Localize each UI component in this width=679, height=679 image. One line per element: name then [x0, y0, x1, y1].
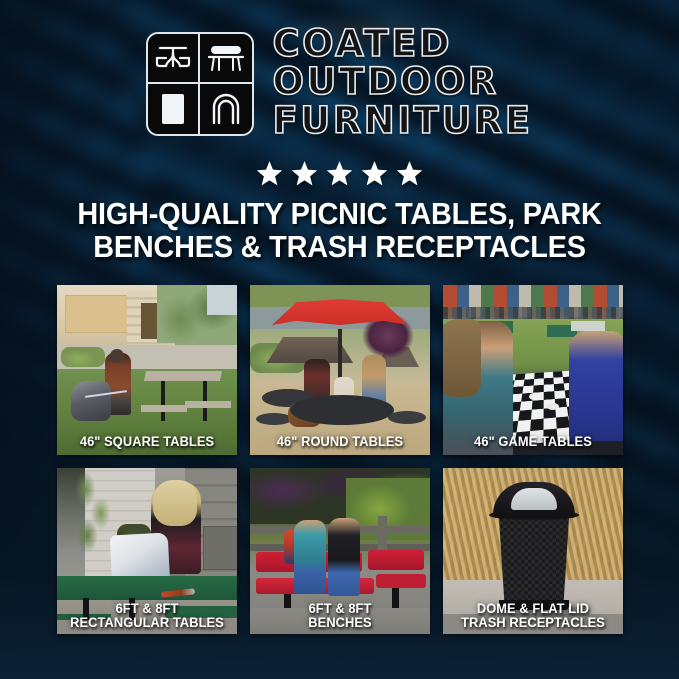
star-icon	[361, 160, 388, 187]
promo-poster: COATED OUTDOOR FURNITURE HIGH-QUALITY PI…	[0, 0, 679, 679]
tile-caption: 46" SQUARE TABLES	[62, 435, 233, 449]
star-icon	[396, 160, 423, 187]
tile-caption-line-2: RECTANGULAR TABLES	[62, 616, 233, 630]
tile-caption: 6FT & 8FT RECTANGULAR TABLES	[62, 602, 233, 630]
headline-line-2: BENCHES & TRASH RECEPTACLES	[41, 231, 639, 264]
tile-caption: 6FT & 8FT BENCHES	[255, 602, 426, 630]
category-tile-round-tables[interactable]: 46" ROUND TABLES	[250, 285, 430, 455]
tile-caption: 46" ROUND TABLES	[255, 435, 426, 449]
tile-caption-line-2: TRASH RECEPTACLES	[448, 616, 619, 630]
tile-caption: 46" GAME TABLES	[448, 435, 619, 449]
product-category-grid: 46" SQUARE TABLES 4	[57, 285, 623, 634]
category-tile-square-tables[interactable]: 46" SQUARE TABLES	[57, 285, 237, 455]
tile-caption-line-1: 46" SQUARE TABLES	[62, 435, 233, 449]
picnic-table-icon	[148, 34, 200, 84]
category-tile-game-tables[interactable]: 46" GAME TABLES	[443, 285, 623, 455]
star-icon	[326, 160, 353, 187]
headline-line-1: HIGH-QUALITY PICNIC TABLES, PARK	[41, 198, 639, 231]
tile-caption-line-2: BENCHES	[255, 616, 426, 630]
tile-caption-line-1: 46" GAME TABLES	[448, 435, 619, 449]
logo-mark-grid	[146, 32, 254, 136]
brand-line-2: OUTDOOR	[272, 64, 498, 99]
poster-content: COATED OUTDOOR FURNITURE HIGH-QUALITY PI…	[0, 0, 679, 679]
photo-round-tables	[250, 285, 430, 455]
star-rating	[0, 156, 679, 190]
star-icon	[256, 160, 283, 187]
brand-line-1: COATED	[272, 26, 452, 61]
trash-receptacle-icon	[148, 84, 200, 134]
park-bench-icon	[200, 34, 252, 84]
tile-caption-line-1: 46" ROUND TABLES	[255, 435, 426, 449]
bike-rack-arch-icon	[200, 84, 252, 134]
category-tile-rectangular-tables[interactable]: 6FT & 8FT RECTANGULAR TABLES	[57, 468, 237, 634]
brand-line-3: FURNITURE	[272, 103, 532, 138]
brand-wordmark: COATED OUTDOOR FURNITURE	[272, 26, 532, 140]
brand-logo: COATED OUTDOOR FURNITURE	[0, 26, 679, 141]
headline: HIGH-QUALITY PICNIC TABLES, PARK BENCHES…	[24, 198, 655, 264]
category-tile-benches[interactable]: 6FT & 8FT BENCHES	[250, 468, 430, 634]
star-icon	[291, 160, 318, 187]
category-tile-trash-receptacles[interactable]: DOME & FLAT LID TRASH RECEPTACLES	[443, 468, 623, 634]
photo-game-tables	[443, 285, 623, 455]
photo-square-tables	[57, 285, 237, 455]
tile-caption: DOME & FLAT LID TRASH RECEPTACLES	[448, 602, 619, 630]
